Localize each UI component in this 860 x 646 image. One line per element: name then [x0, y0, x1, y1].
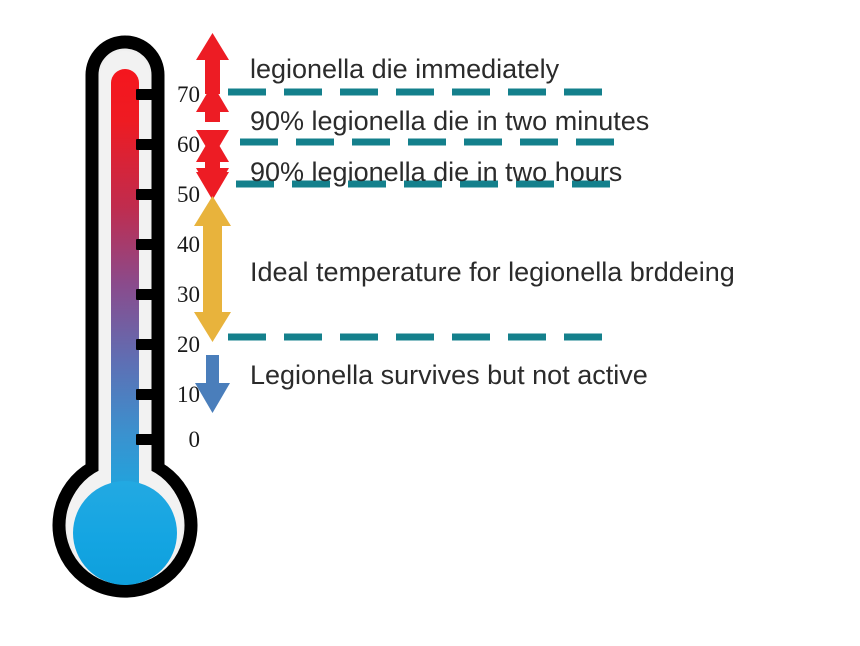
figure-graphics [0, 0, 860, 646]
band-label-two-minutes: 90% legionella die in two minutes [250, 108, 649, 135]
arrow-group-hot [196, 33, 229, 200]
scale-label-10: 10 [160, 383, 200, 406]
arrowhead-up-top [196, 33, 229, 60]
thermometer-infographic: 70 60 50 40 30 20 10 0 legionella die im… [0, 0, 860, 646]
scale-label-60: 60 [160, 133, 200, 156]
arrow-shaft-breeding [203, 220, 222, 312]
scale-label-40: 40 [160, 233, 200, 256]
arrowhead-down-50b [196, 172, 229, 200]
arrow-group-dormant [195, 355, 230, 413]
thermometer-body [59, 42, 191, 591]
scale-label-0: 0 [160, 428, 200, 451]
arrow-shaft-two-minutes-a [205, 104, 220, 122]
arrow-group-breeding [194, 196, 231, 342]
mercury-column [111, 69, 139, 500]
scale-label-50: 50 [160, 183, 200, 206]
arrow-shaft-two-hours [205, 154, 220, 170]
band-label-breeding: Ideal temperature for legionella brddein… [250, 259, 735, 286]
scale-label-30: 30 [160, 283, 200, 306]
thermometer-bulb [73, 481, 177, 585]
arrowhead-down-dormant [195, 383, 230, 413]
band-label-two-hours: 90% legionella die in two hours [250, 159, 622, 186]
scale-label-20: 20 [160, 333, 200, 356]
band-label-dormant: Legionella survives but not active [250, 362, 648, 389]
band-label-immediate: legionella die immediately [250, 56, 559, 83]
scale-label-70: 70 [160, 83, 200, 106]
